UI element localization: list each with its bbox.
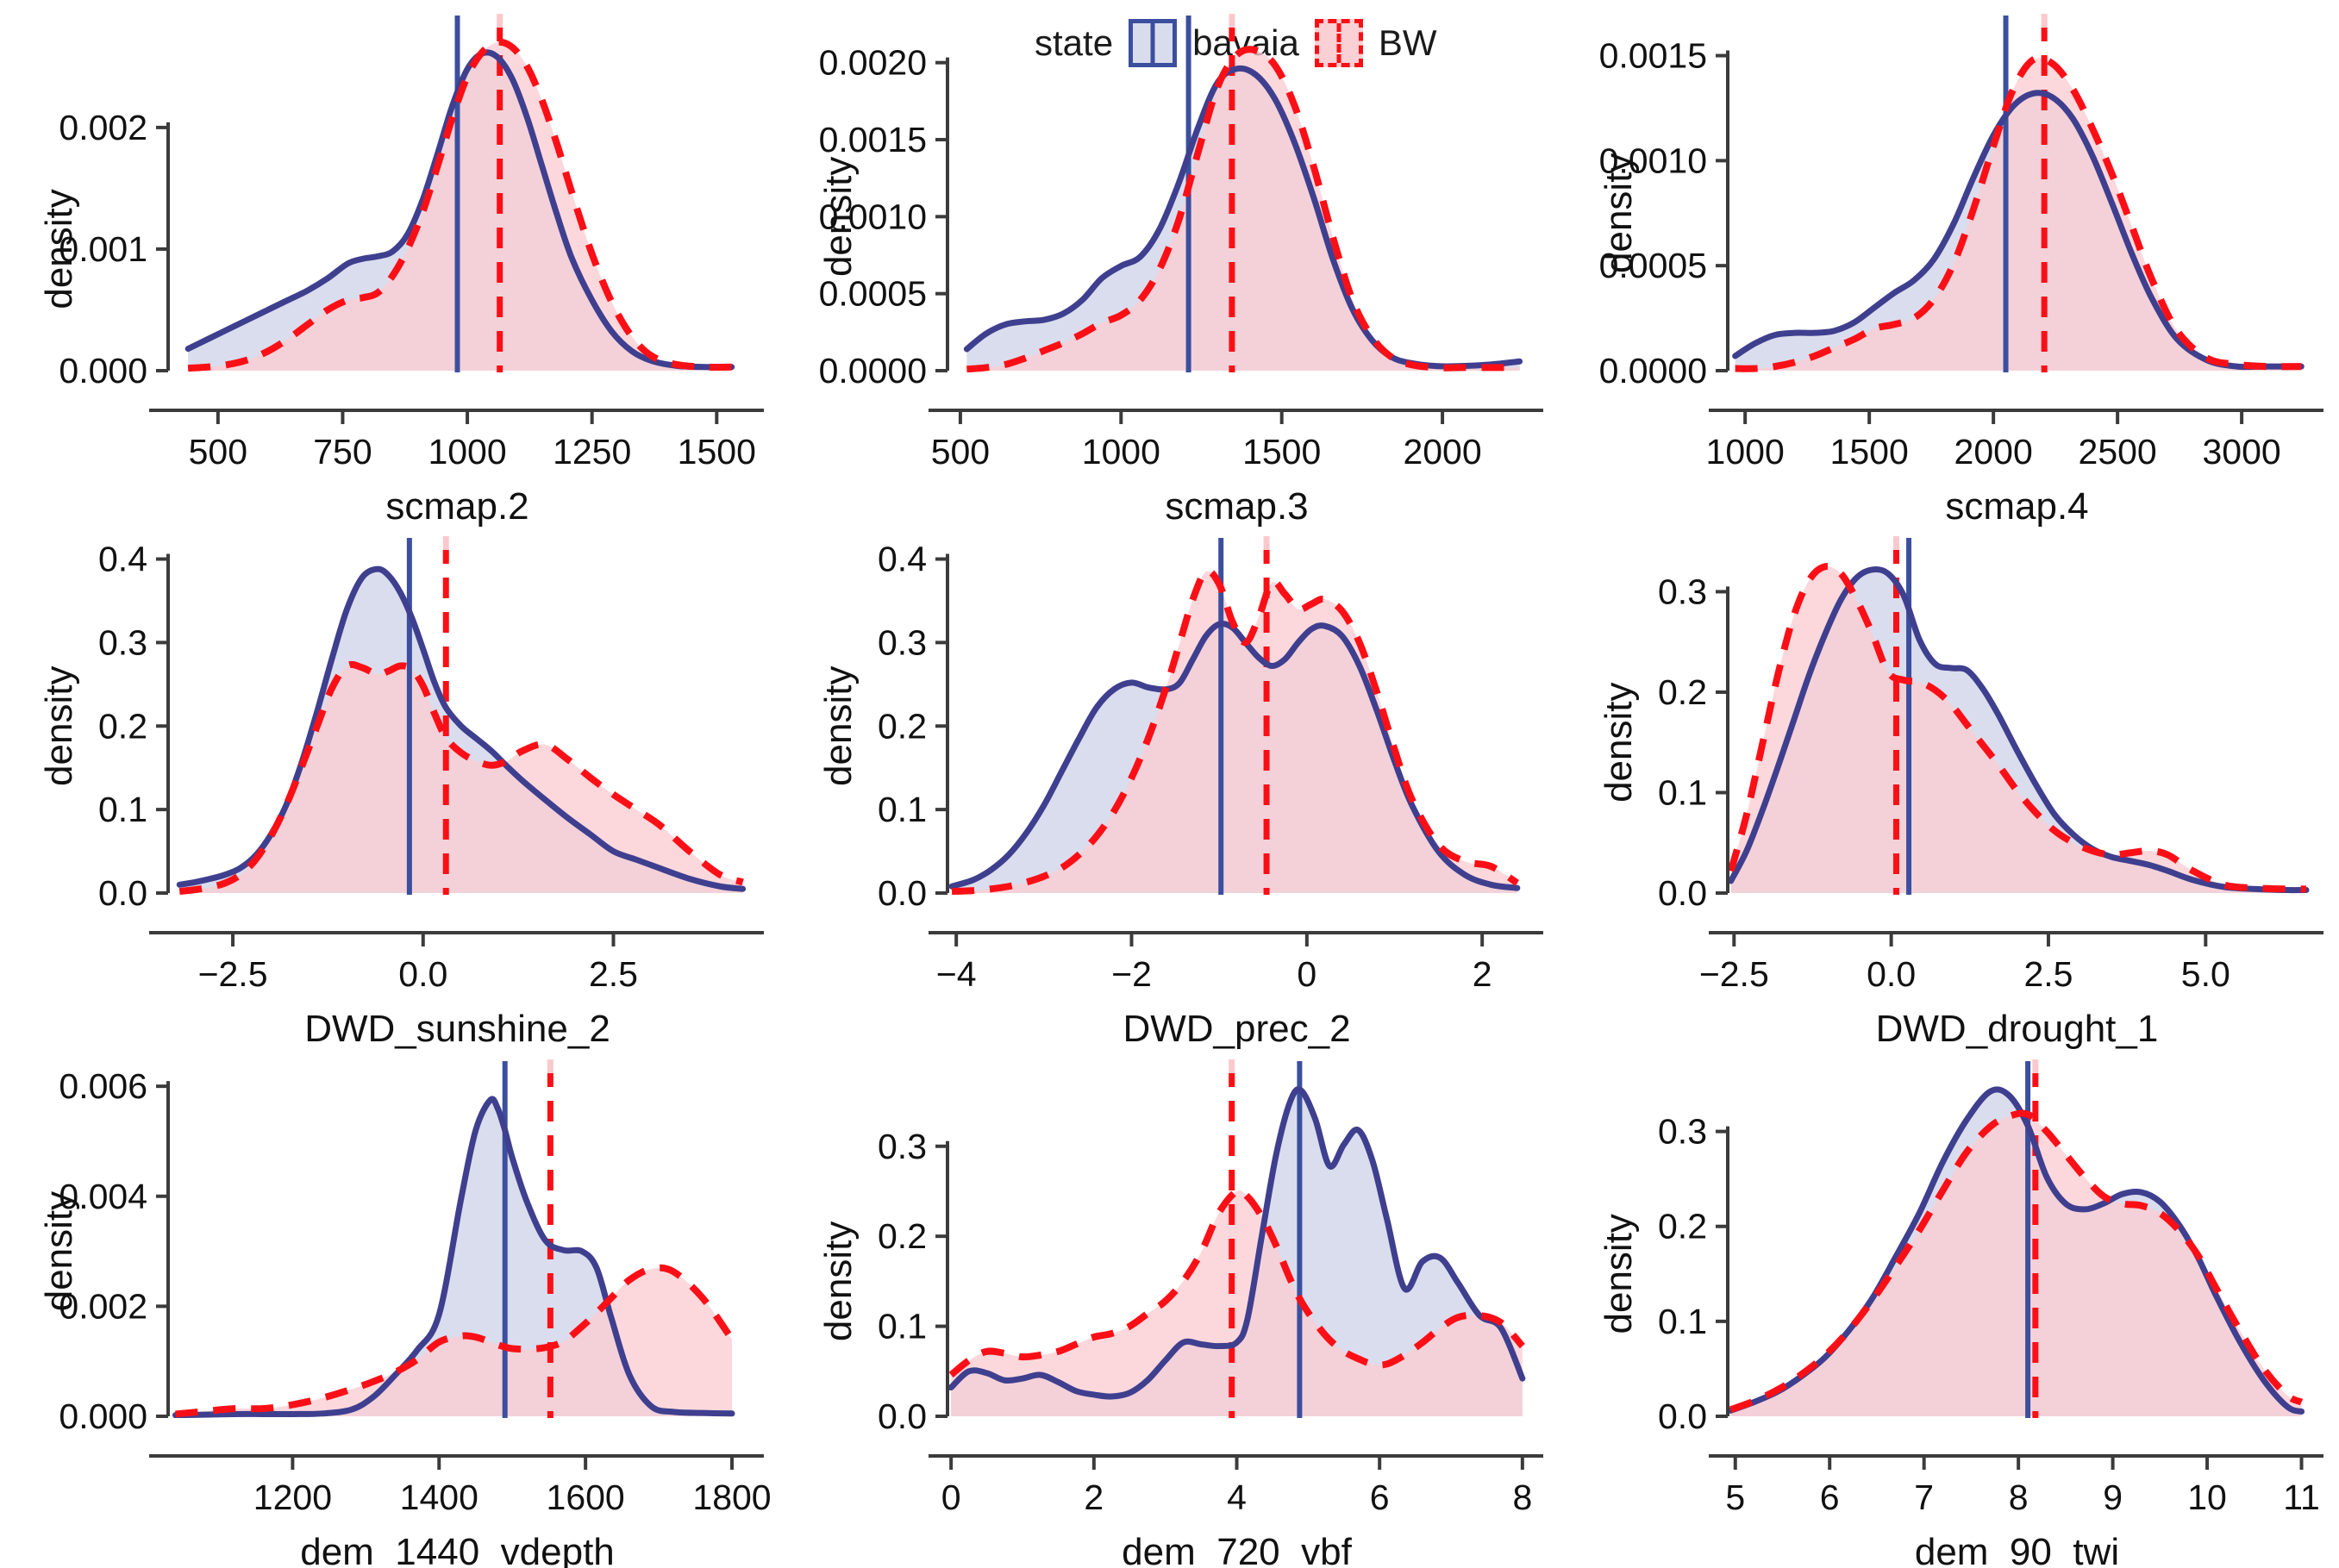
y-tick-label: 0.4	[98, 540, 147, 579]
panel-dwd_drought_1: 0.00.10.20.3−2.50.02.55.0DWD_drought_1de…	[1560, 522, 2339, 1045]
y-tick-label: 0.3	[1658, 572, 1707, 611]
y-tick-label: 0.1	[98, 790, 147, 829]
x-axis-title: scmap.4	[1945, 485, 2088, 528]
x-tick-label: 9	[2103, 1477, 2123, 1517]
panel-scmap2: 0.0000.0010.002500750100012501500scmap.2…	[0, 0, 779, 522]
y-axis-title: density	[817, 666, 860, 786]
y-tick-label: 0.0015	[1599, 36, 1707, 76]
x-tick-label: 0	[1297, 954, 1316, 994]
y-tick-label: 0.2	[1658, 672, 1707, 712]
y-axis-title: density	[1598, 1214, 1640, 1334]
x-tick-label: 1500	[1830, 432, 1909, 472]
x-tick-label: 5	[1725, 1477, 1745, 1517]
x-tick-label: 1600	[547, 1477, 625, 1517]
x-axis-title: DWD_sunshine_2	[304, 1008, 610, 1050]
x-tick-label: 8	[2009, 1477, 2029, 1517]
area-fill-bw	[1731, 566, 2306, 893]
y-tick-label: 0.2	[98, 706, 147, 746]
x-tick-label: 7	[1914, 1477, 1934, 1517]
panel-dwd_sunshine_2: 0.00.10.20.30.4−2.50.02.5DWD_sunshine_2d…	[0, 522, 779, 1045]
y-tick-label: 0.2	[878, 706, 927, 746]
x-tick-label: 1000	[428, 432, 506, 472]
y-axis-title: density	[38, 1191, 80, 1311]
x-tick-label: −2	[1111, 954, 1152, 994]
panel-dwd_prec_2: 0.00.10.20.30.4−4−202DWD_prec_2density	[779, 522, 1559, 1045]
x-tick-label: 11	[2283, 1477, 2320, 1517]
x-tick-label: 2	[1473, 954, 1492, 994]
y-tick-label: 0.0	[1658, 873, 1707, 913]
x-tick-label: 1500	[1242, 432, 1321, 472]
x-tick-label: 0	[941, 1477, 961, 1517]
area-fill-bw	[179, 665, 742, 893]
panel-scmap3: 0.00000.00050.00100.00150.00205001000150…	[779, 0, 1559, 522]
x-tick-label: 1000	[1082, 432, 1160, 472]
y-tick-label: 0.0000	[1599, 351, 1707, 390]
panel-dem_90_twi: 0.00.10.20.3567891011dem_90_twidensity	[1560, 1046, 2339, 1568]
x-axis-title: dem_720_vbf	[1122, 1531, 1352, 1568]
x-tick-label: 6	[1370, 1477, 1390, 1517]
x-tick-label: 2.5	[2023, 954, 2073, 994]
x-tick-label: 1200	[253, 1477, 332, 1517]
x-tick-label: 10	[2187, 1477, 2227, 1517]
y-tick-label: 0.1	[878, 1307, 927, 1346]
x-tick-label: 1000	[1706, 432, 1785, 472]
y-tick-label: 0.0015	[819, 120, 927, 159]
y-tick-label: 0.000	[59, 351, 147, 390]
y-tick-label: 0.000	[59, 1396, 147, 1436]
x-tick-label: 1800	[692, 1477, 771, 1517]
y-tick-label: 0.2	[878, 1216, 927, 1256]
y-tick-label: 0.0	[878, 1396, 927, 1436]
x-tick-label: −4	[936, 954, 977, 994]
y-tick-label: 0.3	[878, 1127, 927, 1166]
y-axis-title: density	[1598, 683, 1640, 803]
x-tick-label: 500	[931, 432, 990, 472]
x-tick-label: 500	[189, 432, 247, 472]
y-tick-label: 0.1	[1658, 772, 1707, 812]
x-tick-label: 1500	[678, 432, 756, 472]
y-tick-label: 0.002	[59, 108, 147, 147]
x-tick-label: 2	[1084, 1477, 1104, 1517]
area-fill-bw	[1730, 1113, 2301, 1416]
y-tick-label: 0.3	[878, 622, 927, 662]
x-tick-label: 0.0	[1867, 954, 1916, 994]
y-axis-title: density	[817, 157, 860, 277]
x-axis-title: dem_1440_vdepth	[300, 1531, 615, 1568]
y-tick-label: 0.4	[878, 540, 927, 579]
y-tick-label: 0.1	[878, 790, 927, 829]
x-tick-label: 2.5	[589, 954, 638, 994]
y-tick-label: 0.0005	[819, 274, 927, 314]
y-tick-label: 0.3	[1658, 1112, 1707, 1152]
y-tick-label: 0.006	[59, 1066, 147, 1106]
x-tick-label: −2.5	[198, 954, 268, 994]
figure-root: state bavaia BW 0.0000.0010.002500750100…	[0, 0, 2339, 1568]
y-axis-title: density	[1598, 153, 1640, 273]
x-tick-label: 4	[1227, 1477, 1247, 1517]
x-tick-label: 5.0	[2181, 954, 2230, 994]
x-axis-title: scmap.2	[385, 485, 528, 528]
x-axis-title: DWD_drought_1	[1876, 1008, 2159, 1050]
x-axis-title: dem_90_twi	[1915, 1531, 2119, 1568]
y-tick-label: 0.1	[1658, 1302, 1707, 1341]
y-axis-title: density	[38, 189, 80, 309]
y-tick-label: 0.2	[1658, 1207, 1707, 1246]
y-tick-label: 0.0	[98, 873, 147, 913]
x-tick-label: 1250	[553, 432, 631, 472]
y-tick-label: 0.0	[878, 873, 927, 913]
y-tick-label: 0.3	[98, 622, 147, 662]
x-tick-label: 3000	[2203, 432, 2281, 472]
x-tick-label: −2.5	[1699, 954, 1769, 994]
y-axis-title: density	[817, 1221, 860, 1341]
x-axis-title: DWD_prec_2	[1123, 1008, 1350, 1050]
panel-dem_720_vbf: 0.00.10.20.302468dem_720_vbfdensity	[779, 1046, 1559, 1568]
x-tick-label: 750	[313, 432, 372, 472]
x-tick-label: 2000	[1954, 432, 2033, 472]
x-tick-label: 8	[1512, 1477, 1532, 1517]
x-tick-label: 2500	[2079, 432, 2157, 472]
panel-dem_1440_vdepth: 0.0000.0020.0040.0061200140016001800dem_…	[0, 1046, 779, 1568]
y-tick-label: 0.0020	[819, 43, 927, 83]
x-tick-label: 2000	[1403, 432, 1481, 472]
y-tick-label: 0.0	[1658, 1396, 1707, 1436]
panel-scmap4: 0.00000.00050.00100.00151000150020002500…	[1560, 0, 2339, 522]
x-tick-label: 6	[1820, 1477, 1840, 1517]
y-axis-title: density	[38, 666, 80, 786]
x-tick-label: 1400	[400, 1477, 478, 1517]
x-tick-label: 0.0	[398, 954, 447, 994]
x-axis-title: scmap.3	[1165, 485, 1308, 528]
y-tick-label: 0.0000	[819, 351, 927, 390]
